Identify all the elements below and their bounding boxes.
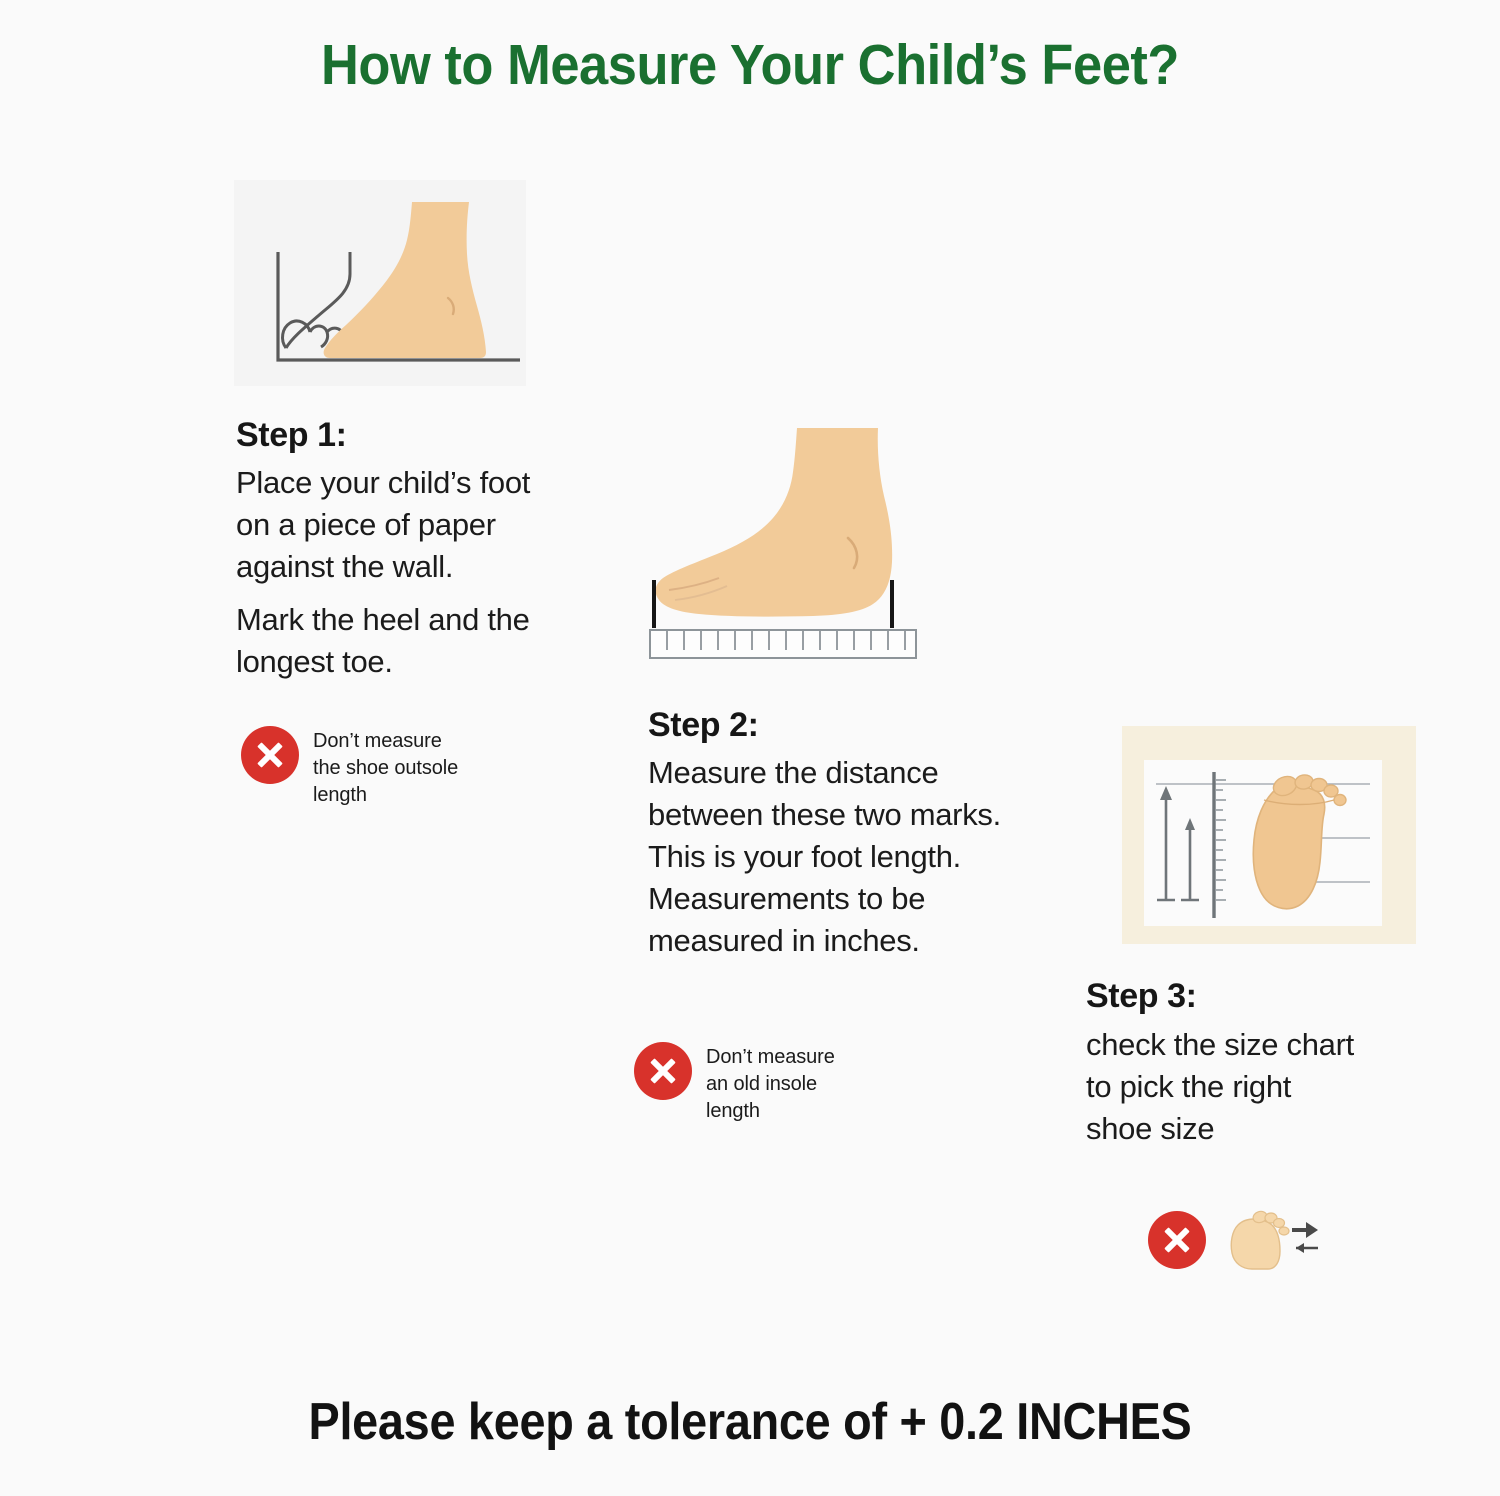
footprint-sole-on-measuring-chart-icon: [1144, 760, 1382, 926]
step-2-warning-text: Don’t measure an old insole length: [706, 1042, 835, 1125]
step-2-warning-badge: Don’t measure an old insole length: [634, 1042, 835, 1125]
warning-line: length: [706, 1098, 835, 1125]
step-3-body: check the size chart to pick the right s…: [1086, 1024, 1426, 1150]
red-x-circle-icon: [634, 1042, 692, 1100]
step-1-warning-badge: Don’t measure the shoe outsole length: [241, 726, 458, 809]
step-2-body-line: Measure the distance: [648, 752, 1078, 794]
step-1-illustration-panel: [234, 180, 526, 386]
warning-line: an old insole: [706, 1071, 835, 1098]
step-1-body-line: Place your child’s foot: [236, 462, 566, 504]
step-1-body-line: Mark the heel and the: [236, 599, 566, 641]
warning-line: length: [313, 782, 458, 809]
step-3-body-line: check the size chart: [1086, 1024, 1426, 1066]
step-1-heading: Step 1:: [236, 416, 347, 455]
step-3-heading: Step 3:: [1086, 977, 1197, 1016]
foot-side-view-with-ruler-icon: [645, 420, 935, 670]
short-measure-arrow: [1181, 818, 1199, 900]
page-title: How to Measure Your Child’s Feet?: [60, 32, 1440, 98]
step-3-chart-card: [1144, 760, 1382, 926]
red-x-circle-icon: [1148, 1211, 1206, 1269]
step-1-body-line: longest toe.: [236, 641, 566, 683]
step-1-body: Place your child’s foot on a piece of pa…: [236, 462, 566, 683]
long-measure-arrow: [1157, 786, 1175, 900]
step-3-warning-badge: [1148, 1205, 1322, 1275]
step-2-illustration-panel: [645, 420, 935, 670]
infographic-page: How to Measure Your Child’s Feet? Step 1…: [0, 0, 1500, 1496]
step-2-body-line: measured in inches.: [648, 920, 1078, 962]
warning-line: Don’t measure: [313, 728, 458, 755]
step-3-body-line: shoe size: [1086, 1108, 1426, 1150]
footprint-with-arrows-icon: [1222, 1205, 1322, 1275]
arrow-left: [1296, 1243, 1318, 1253]
step-1-warning-text: Don’t measure the shoe outsole length: [313, 726, 458, 809]
step-2-body-line: This is your foot length.: [648, 836, 1078, 878]
step-2-body-line: Measurements to be: [648, 878, 1078, 920]
red-x-circle-icon: [241, 726, 299, 784]
step-1-body-line: on a piece of paper: [236, 504, 566, 546]
warning-line: Don’t measure: [706, 1044, 835, 1071]
step-2-heading: Step 2:: [648, 706, 759, 745]
warning-line: the shoe outsole: [313, 755, 458, 782]
step-2-body: Measure the distance between these two m…: [648, 752, 1078, 962]
foot-side-view-against-wall-icon: [234, 180, 526, 386]
step-2-body-line: between these two marks.: [648, 794, 1078, 836]
step-3-body-line: to pick the right: [1086, 1066, 1426, 1108]
step-3-illustration-panel: [1122, 726, 1416, 944]
step-1-body-line: against the wall.: [236, 546, 566, 588]
vertical-ruler-ticks: [1216, 780, 1226, 900]
tolerance-note: Please keep a tolerance of + 0.2 INCHES: [75, 1392, 1425, 1452]
footprint-sole-shape: [1253, 773, 1346, 909]
ruler-body: [650, 630, 916, 658]
arrow-right: [1292, 1222, 1318, 1238]
